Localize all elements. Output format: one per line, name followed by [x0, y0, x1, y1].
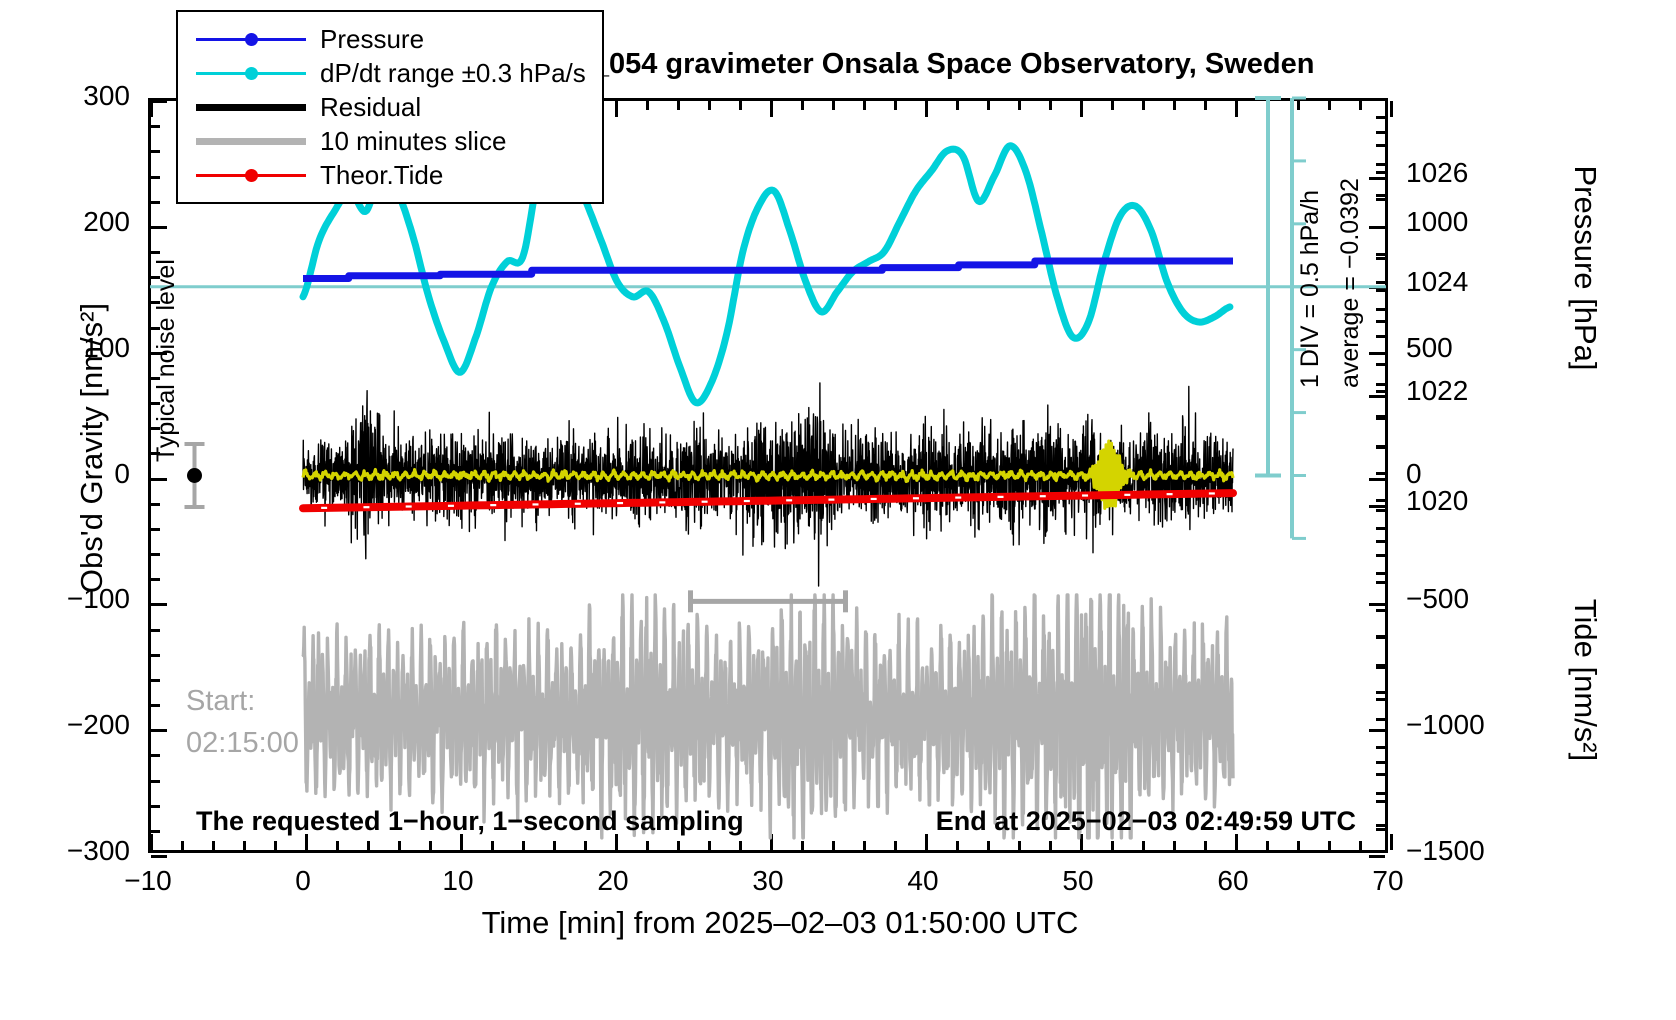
legend-item[interactable]: Residual	[190, 90, 586, 124]
legend-line-sample	[190, 92, 312, 122]
legend-line	[196, 104, 306, 111]
legend-marker-dot	[245, 67, 258, 80]
start-time-label: Start: 02:15:00	[186, 680, 299, 764]
legend-label: Theor.Tide	[312, 160, 443, 191]
chart-title: SCG_054 gravimeter Onsala Space Observat…	[530, 48, 1314, 81]
legend-line-sample	[190, 58, 312, 88]
end-time-label: End at 2025−02−03 02:49:59 UTC	[936, 806, 1356, 837]
start-time-line2: 02:15:00	[186, 722, 299, 764]
dpdt-average-label: average = −0.0392	[1336, 178, 1365, 388]
legend-line-sample	[190, 126, 312, 156]
legend-line	[196, 138, 306, 145]
legend-label: Residual	[312, 92, 421, 123]
series-pressure	[303, 261, 1233, 279]
legend-item[interactable]: 10 minutes slice	[190, 124, 586, 158]
dpdt-scale-label: 1 DIV = 0.5 hPa/h	[1296, 190, 1325, 388]
series-10-minutes-slice	[303, 595, 1233, 838]
legend-label: dP/dt range ±0.3 hPa/s	[312, 58, 586, 89]
start-time-line1: Start:	[186, 680, 299, 722]
legend-item[interactable]: Theor.Tide	[190, 158, 586, 192]
legend-marker-dot	[245, 33, 258, 46]
legend-label: 10 minutes slice	[312, 126, 506, 157]
legend-item[interactable]: dP/dt range ±0.3 hPa/s	[190, 56, 586, 90]
typical-noise-errorbar	[185, 444, 205, 507]
legend-label: Pressure	[312, 24, 424, 55]
sampling-note: The requested 1−hour, 1−second sampling	[196, 806, 744, 837]
plot-canvas: Obs'd Gravity [nm/s²] Pressure [hPa] Tid…	[0, 0, 1676, 1020]
legend-line-sample	[190, 160, 312, 190]
slice-bracket	[691, 590, 846, 612]
legend-marker-dot	[245, 169, 258, 182]
legend: PressuredP/dt range ±0.3 hPa/sResidual10…	[176, 10, 604, 204]
typical-noise-level-label: Typical noise level	[152, 162, 181, 462]
legend-line-sample	[190, 24, 312, 54]
legend-item[interactable]: Pressure	[190, 22, 586, 56]
